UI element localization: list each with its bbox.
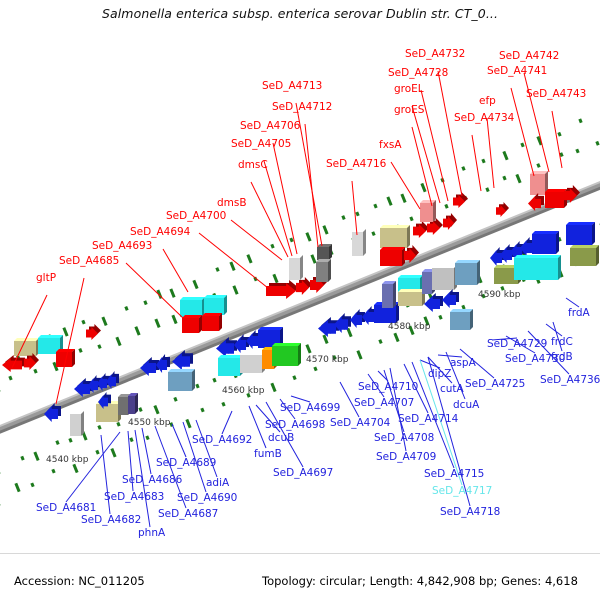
gene-label-red[interactable]: SeD_A4742	[499, 51, 559, 62]
gene-feature-box[interactable]	[398, 289, 425, 306]
strand-tick-icon	[289, 238, 293, 243]
strand-tick-icon	[444, 204, 448, 209]
strand-tick-icon	[371, 231, 375, 236]
strand-tick-icon	[221, 402, 225, 407]
strand-tick-icon	[0, 497, 1, 506]
accession-text: Accession: NC_011205	[14, 574, 145, 588]
gene-label-red[interactable]: SeD_A4705	[231, 139, 291, 150]
gene-label-blue[interactable]: SeD_A4725	[465, 379, 525, 390]
strand-tick-icon	[272, 274, 278, 283]
strand-tick-icon	[51, 469, 55, 474]
strand-tick-icon	[192, 280, 198, 289]
gene-label-red[interactable]: SeD_A4734	[454, 113, 514, 124]
strand-tick-icon	[154, 319, 160, 328]
gene-label-red[interactable]: SeD_A4741	[487, 66, 547, 77]
gene-feature-box[interactable]	[218, 355, 243, 376]
label-leader-line	[264, 161, 292, 256]
gene-label-blue[interactable]: phnA	[138, 528, 165, 539]
ruler-tick-label: 4580 kbp	[388, 322, 430, 333]
gene-feature-box[interactable]	[570, 245, 599, 266]
strand-tick-icon	[438, 315, 442, 320]
gene-feature-arrR[interactable]	[453, 192, 468, 208]
strand-tick-icon	[212, 378, 216, 383]
gene-feature-arrR[interactable]	[496, 202, 509, 217]
strand-tick-icon	[129, 437, 133, 442]
strand-tick-icon	[97, 344, 101, 349]
strand-tick-icon	[0, 383, 1, 392]
gene-feature-box[interactable]	[168, 369, 195, 391]
strand-tick-icon	[310, 254, 316, 263]
label-leader-line	[438, 71, 462, 196]
strand-tick-icon	[578, 118, 582, 123]
gene-label-blue[interactable]: SeD_A4692	[192, 435, 252, 446]
strand-tick-icon	[145, 435, 149, 440]
gene-label-red[interactable]: dmsC	[238, 160, 268, 171]
gene-label-blue[interactable]: SeD_A4689	[156, 458, 216, 469]
strand-tick-icon	[153, 405, 159, 414]
gene-feature-arrR[interactable]	[266, 280, 299, 299]
strand-tick-icon	[0, 465, 1, 474]
strand-tick-icon	[270, 383, 276, 392]
strand-tick-icon	[101, 317, 107, 326]
gene-label-blue[interactable]: dcuA	[453, 400, 479, 411]
gene-feature-arrL[interactable]	[424, 293, 443, 312]
label-leader-line	[487, 118, 494, 188]
gene-label-red[interactable]: SeD_A4743	[526, 89, 586, 100]
gene-feature-box[interactable]	[182, 315, 202, 333]
gene-feature-box[interactable]	[450, 309, 473, 330]
gene-feature-box[interactable]	[14, 338, 39, 356]
gene-label-blue[interactable]: SeD_A4729	[487, 339, 547, 350]
gene-label-blue[interactable]: aspA	[450, 358, 476, 369]
strand-tick-icon	[115, 337, 121, 346]
ruler-tick-label: 4570 kbp	[306, 355, 348, 366]
gene-label-red[interactable]: SeD_A4685	[59, 256, 119, 267]
gene-feature-box[interactable]	[180, 297, 205, 317]
strand-tick-icon	[292, 375, 296, 380]
strand-tick-icon	[246, 254, 252, 263]
strand-tick-icon	[373, 204, 377, 209]
label-leader-line	[472, 135, 481, 191]
strand-tick-icon	[110, 448, 116, 457]
gene-feature-box[interactable]	[432, 265, 457, 290]
strand-tick-icon	[575, 149, 579, 154]
strand-tick-icon	[95, 450, 99, 455]
gene-feature-box[interactable]	[545, 189, 567, 208]
gene-feature-box[interactable]	[128, 393, 138, 414]
strand-tick-icon	[378, 339, 382, 344]
genome-viewer: Salmonella enterica subsp. enterica sero…	[0, 0, 600, 600]
label-leader-line	[352, 181, 357, 235]
gene-label-red[interactable]: SeD_A4713	[262, 81, 322, 92]
gene-feature-box[interactable]	[514, 255, 561, 280]
gene-label-blue[interactable]: SeD_A4714	[398, 414, 458, 425]
label-leader-line	[511, 88, 534, 176]
label-leader-line	[172, 424, 186, 457]
strand-tick-icon	[33, 369, 37, 374]
label-leader-line	[126, 263, 183, 318]
gene-feature-box[interactable]	[204, 295, 227, 315]
gene-feature-box[interactable]	[352, 229, 366, 256]
gene-label-blue[interactable]: dcuB	[268, 433, 294, 444]
genome-map-canvas[interactable]: gltPSeD_A4685SeD_A4693SeD_A4694SeD_A4700…	[0, 30, 600, 552]
strand-tick-icon	[68, 438, 72, 443]
gene-label-blue[interactable]: frdC	[551, 337, 573, 348]
strand-tick-icon	[520, 143, 524, 148]
label-leader-line	[251, 182, 288, 257]
strand-tick-icon	[305, 232, 311, 241]
gene-label-blue[interactable]: SeD_A4687	[158, 509, 218, 520]
label-leader-line	[222, 411, 232, 434]
gene-label-blue[interactable]: frdA	[568, 308, 590, 319]
gene-label-blue[interactable]: SeD_A4686	[122, 475, 182, 486]
strand-tick-icon	[393, 333, 399, 342]
gene-label-blue[interactable]: dipZ	[428, 369, 451, 380]
gene-label-red[interactable]: fxsA	[379, 140, 402, 151]
gene-label-blue[interactable]: SeD_A4697	[273, 468, 333, 479]
strand-tick-icon	[195, 384, 199, 389]
gene-label-blue[interactable]: frdB	[551, 352, 573, 363]
strand-tick-icon	[270, 244, 274, 249]
gene-label-blue[interactable]: SeD_A4715	[424, 469, 484, 480]
gene-label-red[interactable]: SeD_A4716	[326, 159, 386, 170]
gene-label-blue[interactable]: SeD_A4699	[280, 403, 340, 414]
gene-feature-arrR[interactable]	[86, 324, 101, 340]
gene-label-selected[interactable]: SeD_A4717	[432, 486, 492, 497]
label-leader-line	[163, 249, 188, 292]
gene-feature-box[interactable]	[289, 255, 303, 280]
gene-label-red[interactable]: SeD_A4700	[166, 211, 226, 222]
gene-label-blue[interactable]: cutA	[440, 384, 464, 395]
strand-tick-icon	[143, 300, 147, 305]
gene-feature-box[interactable]	[455, 260, 480, 285]
gene-feature-box[interactable]	[380, 247, 405, 266]
strand-tick-icon	[62, 327, 68, 336]
gene-feature-arrR[interactable]	[413, 221, 429, 238]
label-leader-line	[412, 106, 440, 203]
gene-label-red[interactable]: SeD_A4706	[240, 121, 300, 132]
strand-tick-icon	[173, 397, 177, 402]
strand-tick-icon	[420, 183, 426, 192]
strand-tick-icon	[229, 261, 235, 270]
strand-tick-icon	[409, 216, 413, 221]
gene-label-blue[interactable]: SeD_A4704	[330, 418, 390, 429]
gene-feature-box[interactable]	[566, 222, 595, 245]
gene-feature-arrL[interactable]	[2, 355, 25, 372]
gene-label-red[interactable]: gltP	[36, 273, 56, 284]
ruler-tick-label: 4550 kbp	[128, 418, 170, 429]
gene-label-red[interactable]: SeD_A4693	[92, 241, 152, 252]
strand-tick-icon	[116, 422, 120, 427]
gene-label-blue[interactable]: SeD_A4736	[540, 375, 600, 386]
gene-feature-arrL[interactable]	[318, 317, 339, 337]
label-leader-line	[566, 298, 579, 307]
label-leader-line	[378, 371, 388, 381]
gene-label-blue[interactable]: fumB	[254, 449, 282, 460]
gene-label-blue[interactable]: SeD_A4683	[104, 492, 164, 503]
gene-feature-box[interactable]	[240, 352, 265, 373]
gene-feature-box[interactable]	[56, 349, 75, 367]
gene-label-red[interactable]: SeD_A4728	[388, 68, 448, 79]
ruler-tick-label: 4560 kbp	[222, 386, 264, 397]
gene-feature-arrR[interactable]	[443, 213, 457, 230]
gene-label-red[interactable]: SeD_A4732	[405, 49, 465, 60]
gene-feature-box[interactable]	[70, 411, 84, 436]
strand-tick-icon	[305, 344, 311, 353]
gene-label-blue[interactable]: SeD_A4710	[358, 382, 418, 393]
strand-tick-icon	[20, 456, 24, 461]
strand-tick-icon	[313, 366, 317, 371]
gene-feature-arrL[interactable]	[350, 309, 365, 328]
strand-tick-icon	[461, 305, 465, 310]
strand-tick-icon	[386, 196, 392, 205]
strand-tick-icon	[356, 350, 362, 359]
gene-label-blue[interactable]: SeD_A4682	[81, 515, 141, 526]
strand-tick-icon	[8, 376, 12, 381]
strand-tick-icon	[55, 440, 59, 445]
gene-label-red[interactable]: SeD_A4694	[130, 227, 190, 238]
gene-label-blue[interactable]: SeD_A4698	[265, 420, 325, 431]
gene-label-blue[interactable]: adiA	[206, 478, 229, 489]
gene-label-red[interactable]: efp	[479, 96, 496, 107]
gene-feature-box[interactable]	[272, 343, 301, 366]
gene-label-blue[interactable]: SeD_A4707	[354, 398, 414, 409]
strand-tick-icon	[185, 419, 191, 428]
gene-feature-box[interactable]	[420, 200, 436, 222]
gene-feature-box[interactable]	[532, 231, 559, 254]
gene-feature-box[interactable]	[382, 281, 396, 308]
label-leader-line	[552, 111, 562, 168]
strand-tick-icon	[232, 285, 238, 294]
strand-tick-icon	[81, 320, 85, 325]
gene-feature-arrL[interactable]	[442, 289, 459, 308]
gene-label-red[interactable]: dmsB	[217, 198, 247, 209]
strand-tick-icon	[134, 326, 140, 335]
gene-feature-box[interactable]	[202, 313, 222, 331]
ruler-tick-label: 4540 kbp	[46, 455, 88, 466]
strand-tick-icon	[200, 408, 204, 413]
strand-tick-icon	[171, 315, 177, 324]
gene-label-blue[interactable]: SeD_A4718	[440, 507, 500, 518]
strand-tick-icon	[215, 267, 219, 272]
strand-tick-icon	[138, 407, 142, 412]
strand-tick-icon	[400, 194, 406, 203]
strand-tick-icon	[557, 132, 561, 137]
topology-summary-text: Topology: circular; Length: 4,842,908 bp…	[262, 574, 578, 588]
gene-feature-box[interactable]	[316, 259, 331, 282]
strand-tick-icon	[322, 225, 328, 234]
gene-feature-box[interactable]	[317, 244, 332, 260]
label-leader-line	[231, 220, 282, 260]
gene-label-red[interactable]: SeD_A4712	[272, 102, 332, 113]
strand-tick-icon	[515, 174, 521, 183]
strand-tick-icon	[485, 187, 489, 192]
status-bar: Accession: NC_011205 Topology: circular;…	[0, 553, 600, 601]
gene-label-red[interactable]: groEL	[394, 84, 424, 95]
label-leader-line	[273, 143, 297, 254]
strand-tick-icon	[169, 288, 175, 297]
strand-tick-icon	[30, 482, 34, 487]
gene-label-blue[interactable]: SeD_A4690	[177, 493, 237, 504]
strand-tick-icon	[502, 176, 506, 181]
strand-tick-icon	[502, 151, 508, 160]
strand-tick-icon	[33, 452, 39, 461]
strand-tick-icon	[461, 166, 465, 171]
gene-label-red[interactable]: groES	[394, 105, 424, 116]
gene-label-blue[interactable]: SeD_A4709	[376, 452, 436, 463]
strand-tick-icon	[124, 306, 128, 311]
label-leader-line	[142, 428, 151, 474]
gene-label-blue[interactable]: SeD_A4681	[36, 503, 96, 514]
gene-feature-box[interactable]	[380, 225, 410, 248]
strand-tick-icon	[97, 425, 101, 430]
strand-tick-icon	[14, 483, 20, 492]
page-title: Salmonella enterica subsp. enterica sero…	[0, 6, 600, 21]
ruler-tick-label: 4590 kbp	[478, 290, 520, 301]
strand-tick-icon	[481, 159, 485, 164]
gene-label-blue[interactable]: SeD_A4708	[374, 433, 434, 444]
gene-feature-box[interactable]	[530, 171, 548, 195]
strand-tick-icon	[536, 163, 540, 168]
strand-tick-icon	[355, 211, 359, 216]
strand-tick-icon	[341, 215, 345, 220]
strand-tick-icon	[78, 348, 82, 353]
strand-tick-icon	[595, 141, 599, 146]
